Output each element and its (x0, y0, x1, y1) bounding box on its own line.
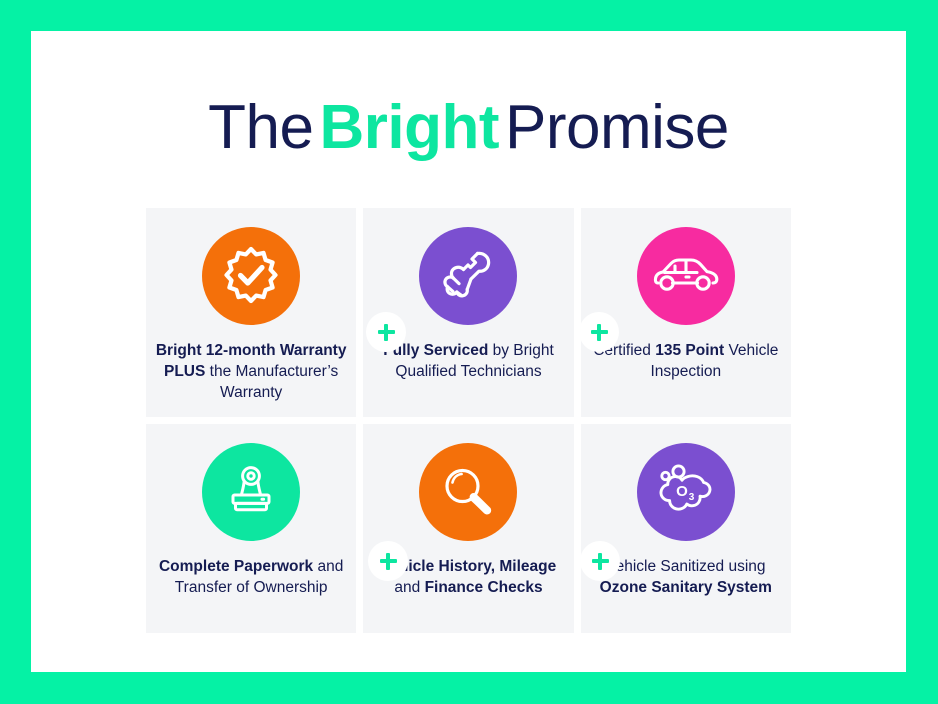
promise-card-grid: Bright 12-month Warranty PLUS the Manufa… (146, 208, 791, 633)
ozone-icon-subscript: 3 (689, 492, 695, 503)
card-fully-serviced[interactable]: Fully Serviced by Bright Qualified Techn… (363, 208, 573, 417)
card-warranty-text: Bright 12-month Warranty PLUS the Manufa… (146, 340, 356, 404)
title-part-promise: Promise (505, 93, 729, 162)
badge-check-icon (220, 245, 282, 307)
hand-wrench-icon (437, 245, 499, 307)
rubber-stamp-icon (222, 463, 280, 521)
page-title: TheBrightPromise (31, 97, 906, 159)
car-icon (653, 251, 719, 301)
card-inspection[interactable]: Certified 135 Point Vehicle Inspection (581, 208, 791, 417)
ozone-cloud-icon-circle: O 3 (637, 443, 735, 541)
title-part-bright: Bright (313, 93, 505, 162)
card-paperwork-text: Complete Paperwork and Transfer of Owner… (146, 556, 356, 598)
promise-panel: TheBrightPromise Bright 12-month Warrant… (31, 31, 906, 672)
badge-check-icon-circle (202, 227, 300, 325)
ozone-icon-label: O (676, 483, 688, 500)
card-paperwork[interactable]: Complete Paperwork and Transfer of Owner… (146, 424, 356, 633)
title-part-the: The (208, 93, 313, 162)
card-ozone[interactable]: O 3 Vehicle Sanitized using Ozone Sanita… (581, 424, 791, 633)
rubber-stamp-icon-circle (202, 443, 300, 541)
plus-connector-row2-left (368, 541, 408, 581)
magnifying-glass-icon-circle (419, 443, 517, 541)
plus-connector-row1-left (366, 312, 406, 352)
hand-wrench-icon-circle (419, 227, 517, 325)
ozone-cloud-icon: O 3 (655, 464, 717, 520)
magnifying-glass-icon (438, 462, 498, 522)
plus-connector-row2-right (580, 541, 620, 581)
card-warranty[interactable]: Bright 12-month Warranty PLUS the Manufa… (146, 208, 356, 417)
plus-connector-row1-right (579, 312, 619, 352)
car-icon-circle (637, 227, 735, 325)
card-history-checks[interactable]: Vehicle History, Mileage and Finance Che… (363, 424, 573, 633)
